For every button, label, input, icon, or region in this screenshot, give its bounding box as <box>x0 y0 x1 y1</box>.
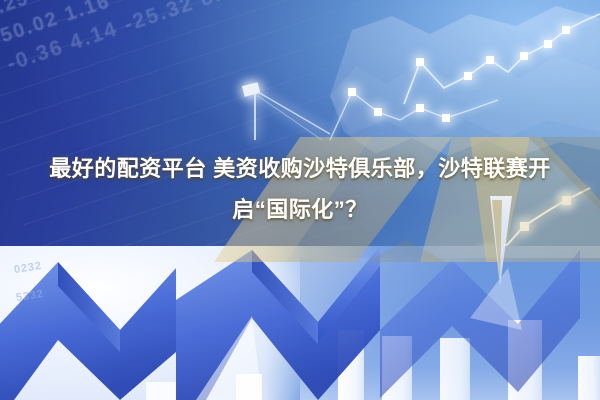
banner-image: -50.02 -02.36 -11.25 +5.02 21.05 -50.02 … <box>0 0 600 400</box>
headline-line-1: 最好的配资平台 美资收购沙特俱乐部，沙特联赛开 <box>0 148 600 189</box>
zigzag-arrow-ribbons <box>0 246 580 400</box>
headline-line-2: 启“国际化”？ <box>0 189 600 230</box>
page-title: 最好的配资平台 美资收购沙特俱乐部，沙特联赛开 启“国际化”？ <box>0 148 600 230</box>
